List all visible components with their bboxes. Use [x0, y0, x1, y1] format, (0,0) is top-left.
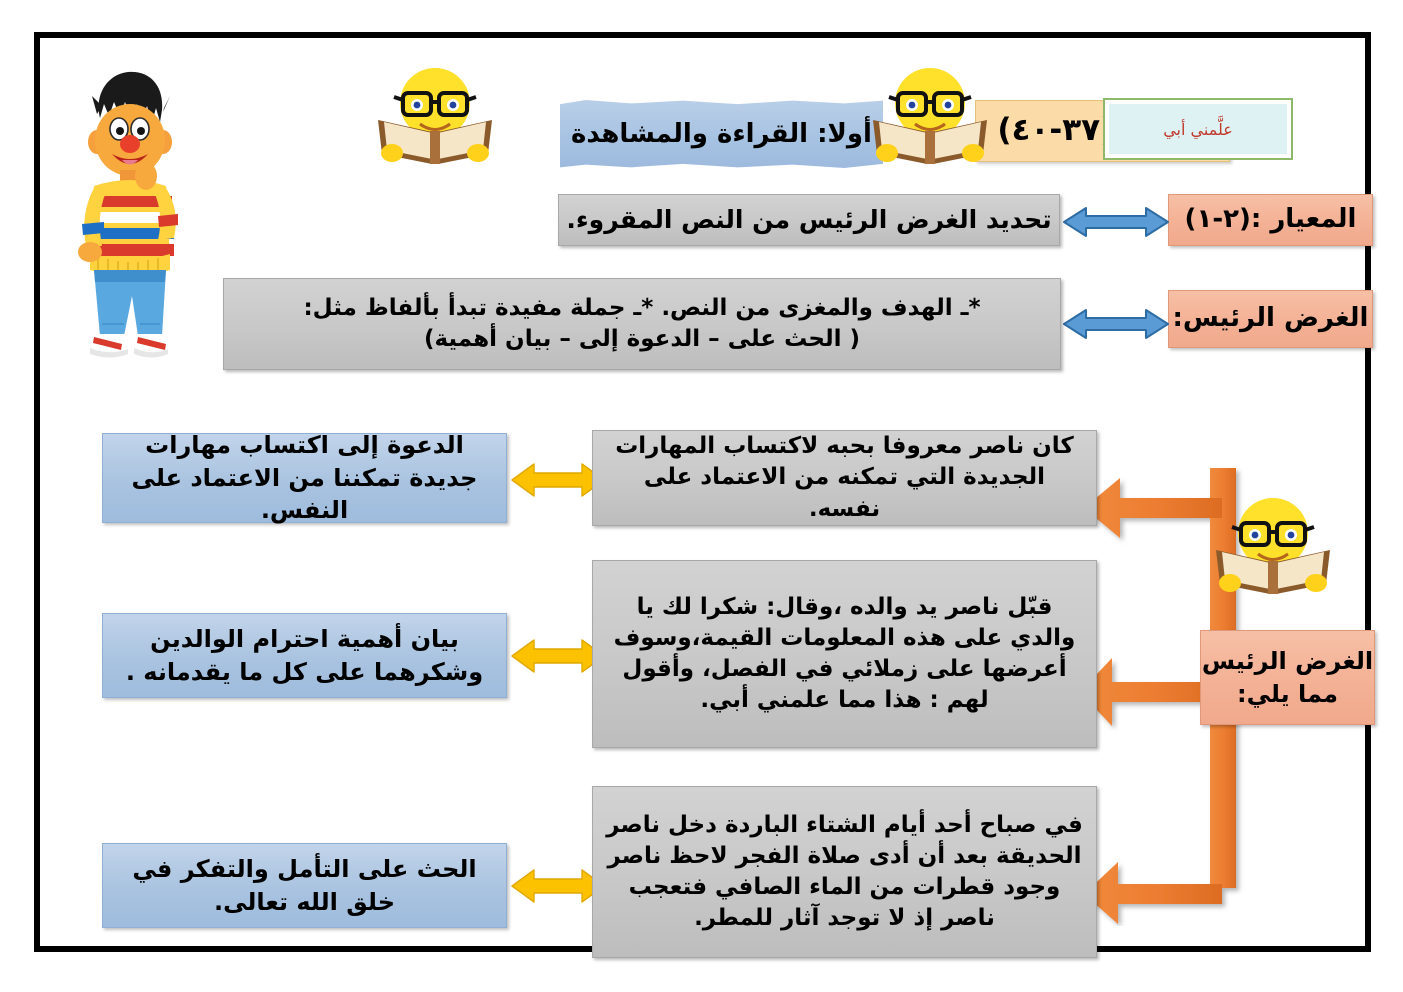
blue-double-arrow-criterion: [1062, 204, 1170, 240]
teacher-note-text: علَّمني أبي: [1109, 104, 1287, 154]
smiley-reading-book-icon: [370, 60, 500, 165]
passage-box-3: في صباح أحد أيام الشتاء الباردة دخل ناصر…: [592, 786, 1097, 958]
main-purpose-line-1: الغرض الرئيس: [1202, 645, 1373, 677]
outcome-box-3: الحث على التأمل والتفكر في خلق الله تعال…: [102, 843, 507, 928]
purpose-description-line-1: *ـ الهدف والمغزى من النص. *ـ جملة مفيدة …: [234, 293, 1050, 324]
outcome-box-1: الدعوة إلى اكتساب مهارات جديدة تمكننا من…: [102, 433, 507, 523]
blue-double-arrow-purpose: [1062, 306, 1170, 342]
main-purpose-line-2: مما يلي:: [1237, 678, 1338, 710]
section-title-text: أولا: القراءة والمشاهدة: [560, 100, 883, 168]
worksheet-frame: صفحة(٣٧-٤٠) أولا: القراءة وا: [34, 32, 1371, 952]
purpose-description-box: *ـ الهدف والمغزى من النص. *ـ جملة مفيدة …: [223, 278, 1061, 370]
criterion-description-box: تحديد الغرض الرئيس من النص المقروء.: [558, 194, 1060, 246]
passage-box-2: قبّل ناصر يد والده ،وقال: شكرا لك يا وال…: [592, 560, 1097, 748]
section-title-banner: أولا: القراءة والمشاهدة: [560, 100, 883, 168]
smiley-reading-book-icon: [865, 60, 995, 165]
passage-box-1: كان ناصر معروفا بحبه لاكتساب المهارات ال…: [592, 430, 1097, 526]
purpose-description-line-2: ( الحث على – الدعوة إلى – بيان أهمية): [234, 324, 1050, 355]
outcome-box-2: بيان أهمية احترام الوالدين وشكرهما على ك…: [102, 613, 507, 698]
smiley-reading-book-icon: [1208, 490, 1338, 595]
boy-character-icon: [64, 56, 194, 361]
criterion-label-box: المعيار :(٢-١): [1168, 194, 1373, 246]
teacher-note-card: علَّمني أبي: [1103, 98, 1293, 160]
purpose-label-box: الغرض الرئيس:: [1168, 290, 1373, 348]
main-purpose-hub-box: الغرض الرئيس مما يلي:: [1200, 630, 1375, 725]
